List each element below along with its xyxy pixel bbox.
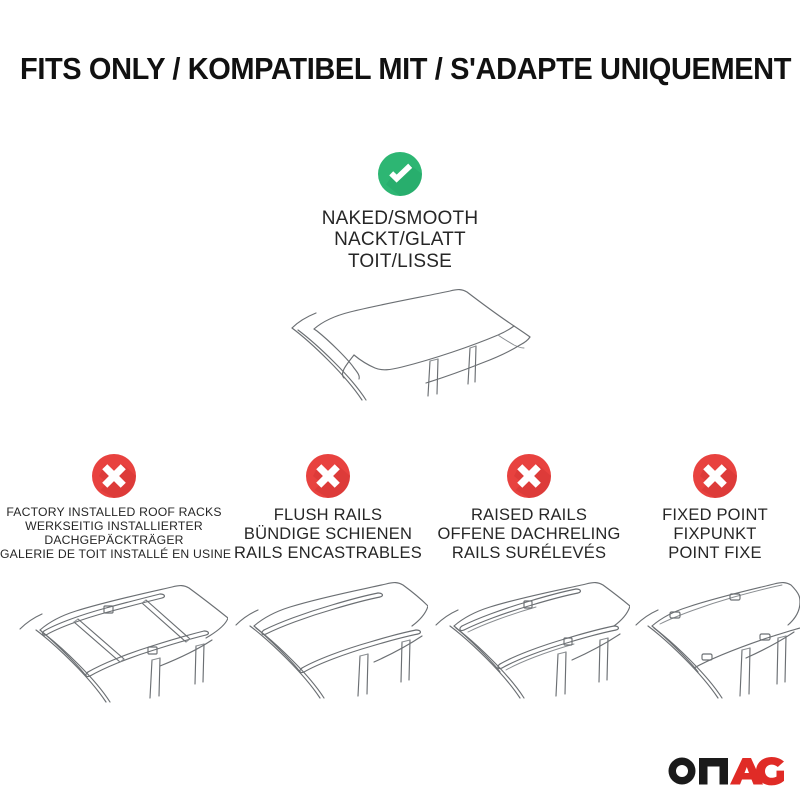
page-title: FITS ONLY / KOMPATIBEL MIT / S'ADAPTE UN… [20,52,780,87]
roof-type-labels: FIXED POINT FIXPUNKT POINT FIXE [630,506,800,562]
approved-label-fr: TOIT/LISSE [255,251,545,272]
label-en: RAISED RAILS [428,506,630,525]
rejected-roof-type-flush-rails: FLUSH RAILS BÜNDIGE SCHIENEN RAILS ENCAS… [228,452,428,708]
label-de-1: WERKSEITIG INSTALLIERTER [0,520,228,534]
omac-logo [666,750,786,790]
rejected-roof-type-raised-rails: RAISED RAILS OFFENE DACHRELING RAILS SUR… [428,452,630,708]
rejected-roof-type-fixed-point: FIXED POINT FIXPUNKT POINT FIXE [630,452,800,708]
roof-type-labels: FLUSH RAILS BÜNDIGE SCHIENEN RAILS ENCAS… [228,506,428,562]
label-en: FLUSH RAILS [228,506,428,525]
rejected-roof-types-row: FACTORY INSTALLED ROOF RACKS WERKSEITIG … [0,452,800,702]
car-roof-raised-rails-illustration [428,568,630,708]
label-fr: RAILS ENCASTRABLES [228,544,428,563]
label-de-2: DACHGEPÄCKTRÄGER [0,534,228,548]
label-de: FIXPUNKT [630,525,800,544]
approved-roof-type: NAKED/SMOOTH NACKT/GLATT TOIT/LISSE [255,150,545,272]
label-de: OFFENE DACHRELING [428,525,630,544]
approved-label-en: NAKED/SMOOTH [255,208,545,229]
car-roof-naked-smooth-illustration [262,272,562,432]
x-circle-icon [691,452,739,500]
label-fr: GALERIE DE TOIT INSTALLÉ EN USINE [0,548,228,562]
roof-type-labels: FACTORY INSTALLED ROOF RACKS WERKSEITIG … [0,506,228,562]
roof-type-labels: RAISED RAILS OFFENE DACHRELING RAILS SUR… [428,506,630,562]
rejected-roof-type-factory-roof-racks: FACTORY INSTALLED ROOF RACKS WERKSEITIG … [0,452,228,708]
car-roof-fixed-point-illustration [630,568,800,708]
label-fr: POINT FIXE [630,544,800,563]
approved-labels: NAKED/SMOOTH NACKT/GLATT TOIT/LISSE [255,208,545,272]
label-en: FIXED POINT [630,506,800,525]
label-en: FACTORY INSTALLED ROOF RACKS [0,506,228,520]
label-de: BÜNDIGE SCHIENEN [228,525,428,544]
car-roof-factory-roof-racks-illustration [0,568,228,708]
x-circle-icon [304,452,352,500]
car-roof-flush-rails-illustration [228,568,428,708]
label-fr: RAILS SURÉLEVÉS [428,544,630,563]
check-circle-icon [376,150,424,198]
x-circle-icon [505,452,553,500]
x-circle-icon [90,452,138,500]
approved-label-de: NACKT/GLATT [255,229,545,250]
